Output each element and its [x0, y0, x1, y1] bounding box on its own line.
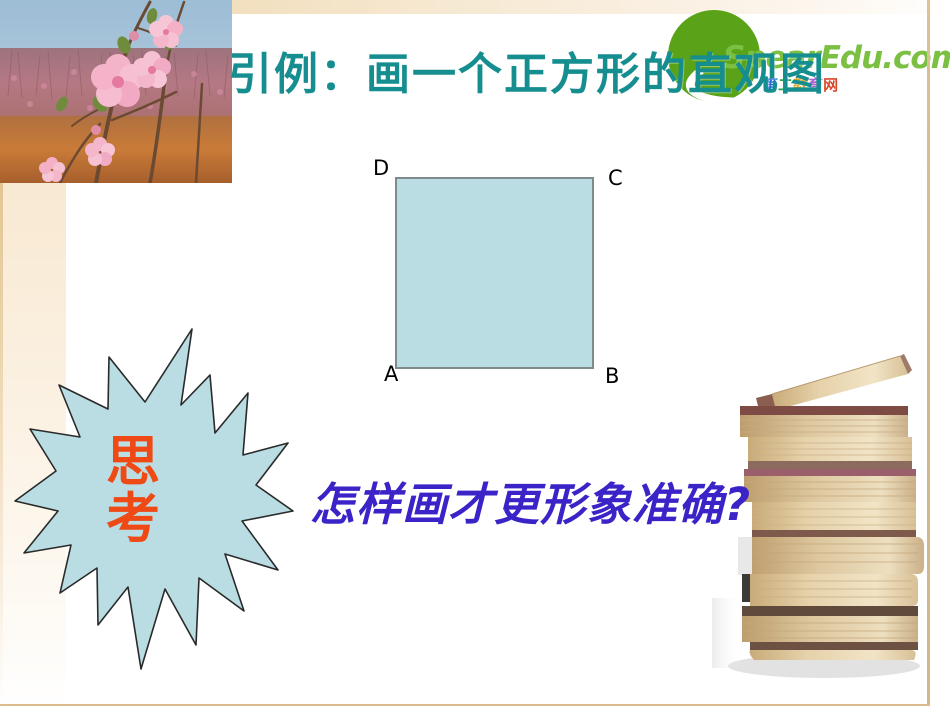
- question-text: 怎样画才更形象准确?: [310, 468, 751, 533]
- frame-bottom-rule: [0, 704, 930, 706]
- peach-blossom-photo: [0, 0, 232, 183]
- square-figure: D C A B: [360, 150, 640, 400]
- vertex-label-c: C: [608, 168, 623, 189]
- vertex-label-b: B: [605, 366, 619, 387]
- think-label: 思考: [98, 433, 168, 547]
- frame-right-rule: [927, 0, 930, 706]
- vertex-label-d: D: [373, 158, 389, 179]
- slide-canvas: SpearEdu.com 第二教育网 引例：画一个正方形的直观图 D C A B…: [0, 0, 950, 713]
- slide-title: 引例：画一个正方形的直观图: [228, 38, 918, 102]
- square-shape: [395, 177, 594, 369]
- vertex-label-a: A: [384, 364, 398, 385]
